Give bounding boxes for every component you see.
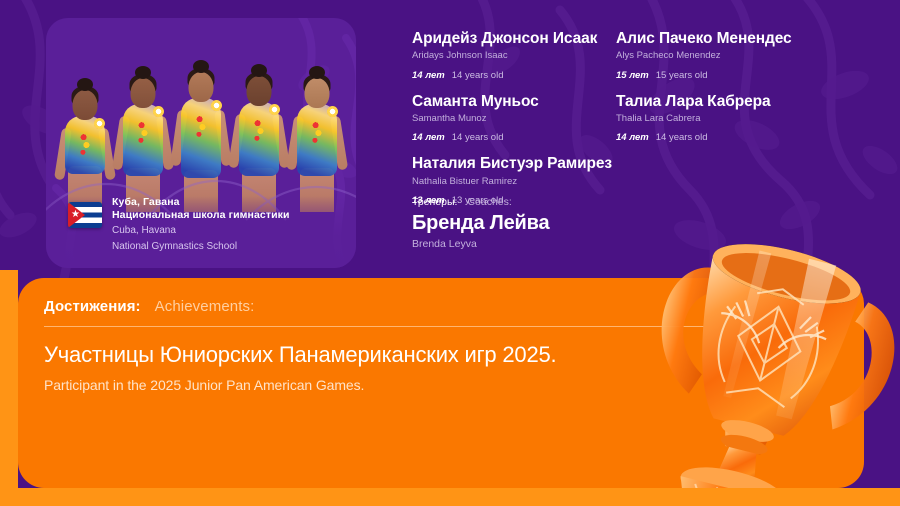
athlete-name-en: Samantha Munoz (412, 113, 612, 124)
athlete-age-ru: 15 лет (616, 70, 649, 81)
country-name-en: Cuba, Havana (112, 225, 290, 238)
coaches-label-ru: Тренеры: (412, 196, 457, 208)
athlete-age: 14 лет14 years old (412, 65, 612, 83)
cuba-flag-icon: ★ (68, 202, 102, 228)
athlete-age: 15 лет15 years old (616, 65, 816, 83)
athlete-name-ru: Аридейз Джонсон Исаак (412, 30, 612, 48)
achievement-title-en: Participant in the 2025 Junior Pan Ameri… (44, 377, 838, 393)
athlete-column-left: Аридейз Джонсон Исаак Aridays Johnson Is… (412, 30, 612, 218)
frame-strip-bottom (0, 488, 900, 506)
athlete-name-ru: Талиа Лара Кабрера (616, 93, 816, 111)
athlete-age: 14 лет14 years old (616, 127, 816, 145)
athlete-name-ru: Наталия Бистуэр Рамирез (412, 155, 612, 173)
athlete-age-en: 14 years old (452, 132, 504, 143)
coaches-label-en: Coaches: (467, 196, 511, 208)
country-name-ru: Куба, Гавана (112, 196, 290, 209)
athlete-name-en: Alys Pacheco Menendez (616, 50, 816, 61)
team-photo-card: ★ Куба, Гавана Национальная школа гимнас… (46, 18, 356, 268)
athlete-name-en: Thalia Lara Cabrera (616, 113, 816, 124)
coach-name-ru: Бренда Лейва (412, 212, 712, 235)
coaches-block: Тренеры: Coaches: Бренда Лейва Brenda Le… (412, 196, 712, 250)
coach-name-en: Brenda Leyva (412, 238, 712, 250)
achievements-label-en: Achievements: (155, 298, 255, 315)
achievements-heading: Достижения: Achievements: (44, 298, 838, 315)
athlete-name-ru: Алис Пачеко Менендес (616, 30, 816, 48)
coaches-heading: Тренеры: Coaches: (412, 196, 712, 208)
athlete-age: 14 лет14 years old (412, 127, 612, 145)
athlete-entry: Саманта Муньос Samantha Munoz 14 лет14 y… (412, 93, 612, 146)
athlete-entry: Талиа Лара Кабрера Thalia Lara Cabrera 1… (616, 93, 816, 146)
athlete-entry: Аридейз Джонсон Исаак Aridays Johnson Is… (412, 30, 612, 83)
school-name-ru: Национальная школа гимнастики (112, 209, 290, 222)
athlete-age-ru: 14 лет (412, 132, 445, 143)
achievements-label-ru: Достижения: (44, 298, 141, 315)
divider (44, 326, 736, 327)
athlete-age-en: 14 years old (452, 70, 504, 81)
achievement-title-ru: Участницы Юниорских Панамериканских игр … (44, 342, 838, 368)
school-name-en: National Gymnastics School (112, 241, 290, 254)
frame-strip-left (0, 270, 18, 506)
country-row: ★ Куба, Гавана Национальная школа гимнас… (68, 196, 342, 254)
athlete-column-right: Алис Пачеко Менендес Alys Pacheco Menend… (616, 30, 816, 218)
athlete-entry: Алис Пачеко Менендес Alys Pacheco Menend… (616, 30, 816, 83)
athlete-age-ru: 14 лет (616, 132, 649, 143)
athlete-age-en: 15 years old (656, 70, 708, 81)
athlete-age-en: 14 years old (656, 132, 708, 143)
athlete-name-en: Nathalia Bistuer Ramirez (412, 176, 612, 187)
athlete-name-ru: Саманта Муньос (412, 93, 612, 111)
achievements-banner: Достижения: Achievements: Участницы Юнио… (18, 278, 864, 488)
poster-stage: ★ Куба, Гавана Национальная школа гимнас… (0, 0, 900, 506)
athlete-age-ru: 14 лет (412, 70, 445, 81)
athlete-list: Аридейз Джонсон Исаак Aridays Johnson Is… (412, 30, 882, 218)
athlete-name-en: Aridays Johnson Isaac (412, 50, 612, 61)
